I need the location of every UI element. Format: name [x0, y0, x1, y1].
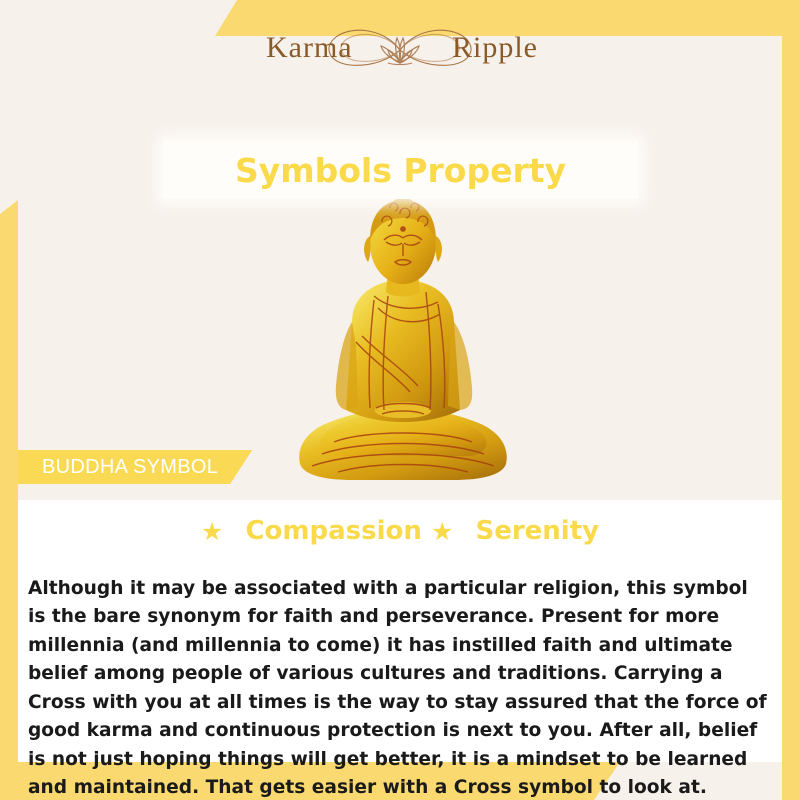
virtues-line: ★ Compassion ★ Serenity — [0, 516, 800, 546]
poster-canvas: Karma Ripple Symbols Property — [0, 0, 800, 800]
page-title: Symbols Property — [235, 151, 566, 190]
frame-accent-left — [0, 200, 18, 800]
star-icon-left: ★ — [201, 517, 223, 546]
brand-logo: Karma Ripple — [0, 14, 800, 86]
virtue-compassion: Compassion — [245, 516, 421, 546]
buddha-illustration — [278, 196, 528, 488]
virtue-serenity: Serenity — [475, 516, 599, 546]
section-label-text: BUDDHA SYMBOL — [42, 456, 218, 479]
seated-buddha-icon — [278, 196, 528, 488]
frame-accent-right — [782, 0, 800, 800]
brand-word-karma: Karma — [266, 31, 353, 65]
brand-word-ripple: Ripple — [452, 31, 538, 65]
star-icon-right: ★ — [431, 517, 453, 546]
body-paragraph: Although it may be associated with a par… — [28, 575, 770, 800]
brand-mark: Karma Ripple — [250, 17, 550, 83]
section-label-ribbon: BUDDHA SYMBOL — [18, 450, 252, 484]
title-banner: Symbols Property — [163, 141, 638, 199]
